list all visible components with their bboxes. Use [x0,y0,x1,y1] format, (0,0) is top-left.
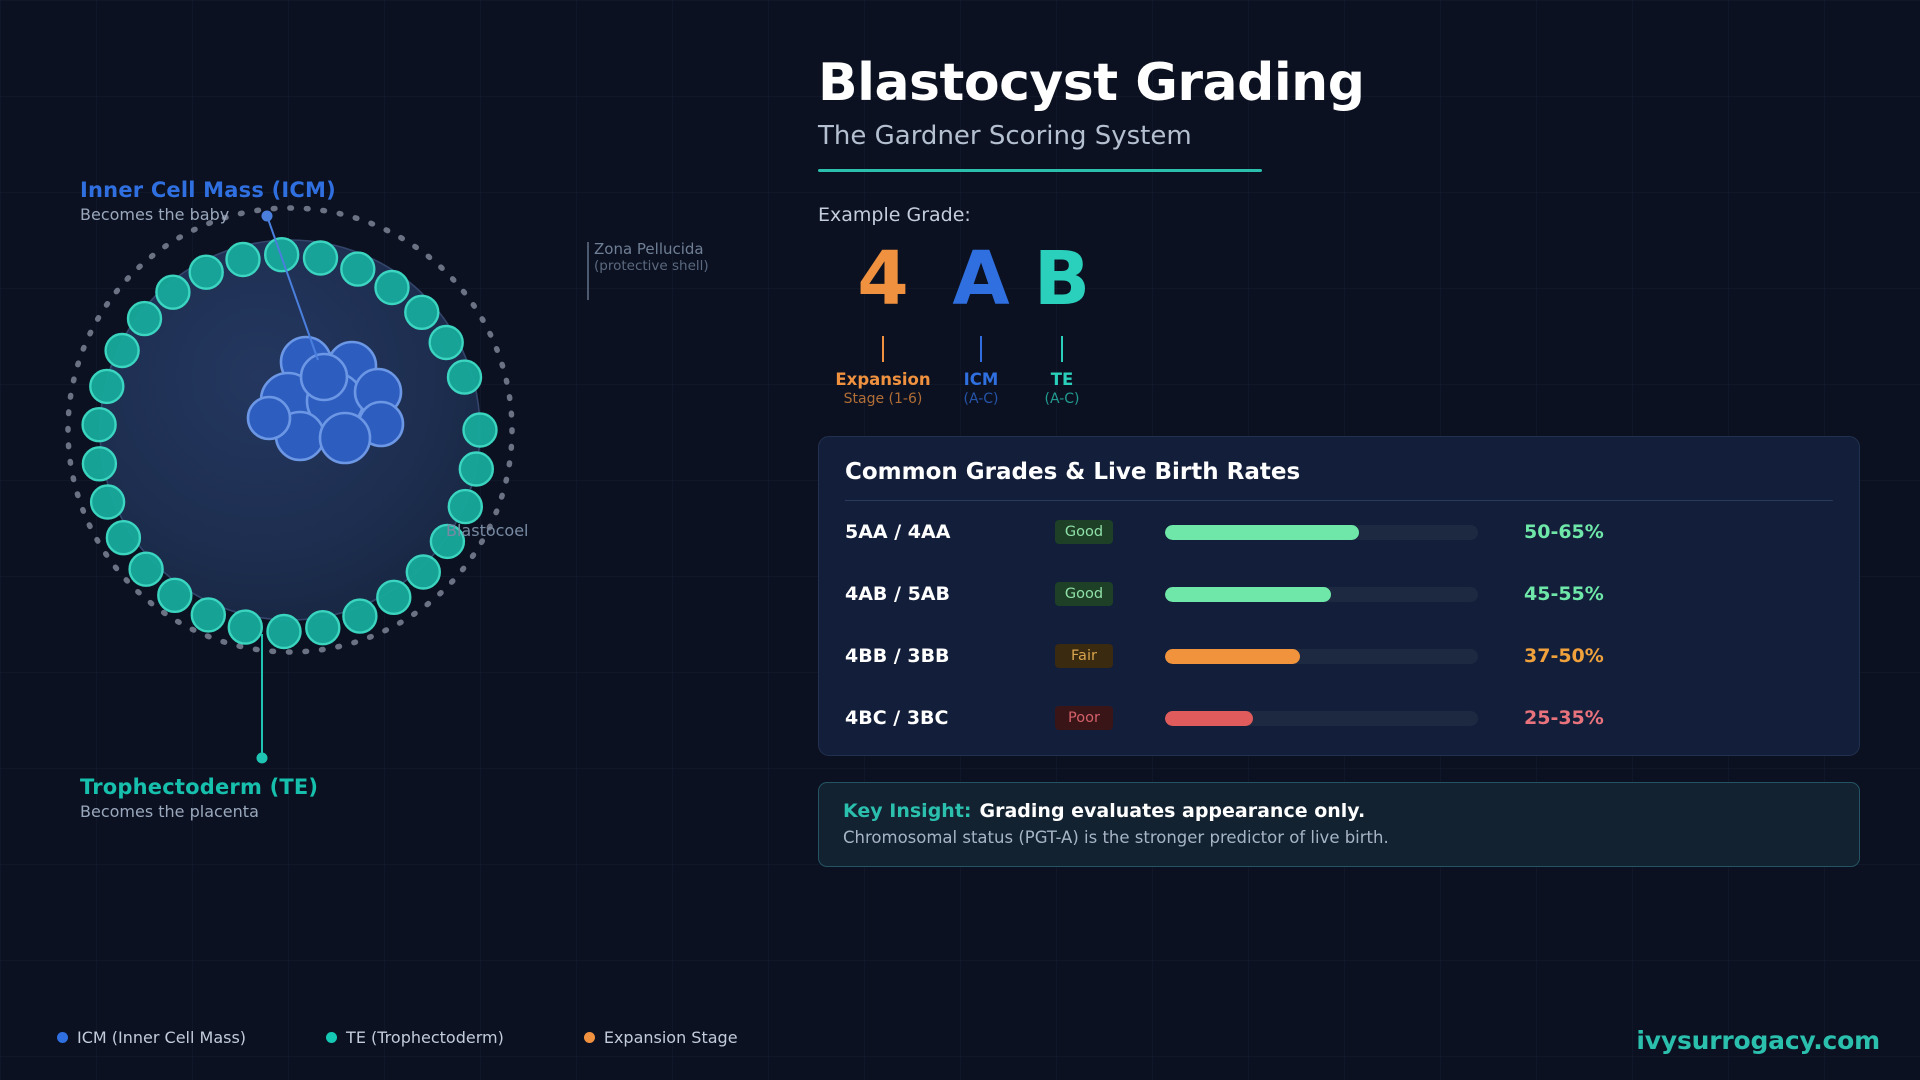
grade-part-stem [882,336,884,362]
key-insight-main: Grading evaluates appearance only. [980,800,1366,822]
infographic-canvas: Inner Cell Mass (ICM) Becomes the baby T… [0,0,1920,1080]
rate-value: 45-55% [1524,583,1604,605]
legend-item-label: TE (Trophectoderm) [346,1028,504,1047]
grade-part-stem [1061,336,1063,362]
grade-label: 5AA / 4AA [845,521,1055,543]
rate-value: 50-65% [1524,521,1604,543]
status-badge: Fair [1055,644,1113,668]
rate-bar-track [1165,525,1478,540]
rate-value: 37-50% [1524,645,1604,667]
grade-part-sub: Stage (1-6) [818,391,948,407]
content-column: Blastocyst Grading The Gardner Scoring S… [818,0,1878,1010]
key-insight-headline: Key Insight:Grading evaluates appearance… [843,800,1835,822]
rate-bar-track [1165,711,1478,726]
grade-part-char: B [1021,242,1103,316]
table-row: 5AA / 4AAGood50-65% [845,501,1833,563]
zona-annotation-sub: (protective shell) [594,258,709,274]
te-annotation: Trophectoderm (TE) Becomes the placenta [80,775,318,821]
grade-part-name: TE [1021,370,1103,389]
grade-label: 4BB / 3BB [845,645,1055,667]
footer: ICM (Inner Cell Mass)TE (Trophectoderm)E… [0,1010,1920,1080]
rate-bar-track [1165,649,1478,664]
example-grade-label: Example Grade: [818,204,1878,226]
icm-annotation-sub: Becomes the baby [80,205,336,224]
grade-label: 4AB / 5AB [845,583,1055,605]
status-badge: Good [1055,582,1113,606]
grades-card-title: Common Grades & Live Birth Rates [845,459,1833,485]
table-row: 4AB / 5ABGood45-55% [845,563,1833,625]
zona-pellucida-annotation: Zona Pellucida (protective shell) [594,240,709,275]
legend-item-label: Expansion Stage [604,1028,738,1047]
rate-bar-fill [1165,525,1359,540]
rate-bar-fill [1165,587,1331,602]
rate-bar-fill [1165,711,1253,726]
legend: ICM (Inner Cell Mass)TE (Trophectoderm)E… [57,1028,818,1047]
brand-watermark: ivysurrogacy.com [1636,1026,1880,1055]
grade-part-icm: A ICM (A-C) [940,242,1022,407]
icm-annotation: Inner Cell Mass (ICM) Becomes the baby [80,178,336,224]
legend-color-dot [584,1032,595,1043]
grades-table: 5AA / 4AAGood50-65%4AB / 5ABGood45-55%4B… [845,501,1833,749]
blastocyst-illustration [0,0,660,1010]
grade-part-name: ICM [940,370,1022,389]
te-annotation-sub: Becomes the placenta [80,802,318,821]
grade-part-char: 4 [818,242,948,316]
table-row: 4BB / 3BBFair37-50% [845,625,1833,687]
grades-card: Common Grades & Live Birth Rates 5AA / 4… [818,436,1860,756]
grade-breakdown: 4 Expansion Stage (1-6) A ICM (A-C) B TE… [818,242,1878,418]
key-insight-box: Key Insight:Grading evaluates appearance… [818,782,1860,867]
legend-item: ICM (Inner Cell Mass) [57,1028,246,1047]
page-subtitle: The Gardner Scoring System [818,121,1878,151]
grade-part-name: Expansion [818,370,948,389]
legend-item-label: ICM (Inner Cell Mass) [77,1028,246,1047]
legend-color-dot [326,1032,337,1043]
key-insight-detail: Chromosomal status (PGT-A) is the strong… [843,828,1835,847]
rate-bar-track [1165,587,1478,602]
grade-label: 4BC / 3BC [845,707,1055,729]
table-row: 4BC / 3BCPoor25-35% [845,687,1833,749]
grade-part-sub: (A-C) [940,391,1022,407]
page-title: Blastocyst Grading [818,56,1878,111]
rate-bar-fill [1165,649,1300,664]
grade-part-expansion: 4 Expansion Stage (1-6) [818,242,948,407]
legend-item: Expansion Stage [584,1028,738,1047]
title-underline [818,169,1262,172]
rate-value: 25-35% [1524,707,1604,729]
blastocoel-annotation: Blastocoel [446,521,529,540]
grade-part-stem [980,336,982,362]
status-badge: Poor [1055,706,1113,730]
icm-annotation-title: Inner Cell Mass (ICM) [80,178,336,202]
status-badge: Good [1055,520,1113,544]
legend-color-dot [57,1032,68,1043]
zona-annotation-title: Zona Pellucida [594,240,709,258]
te-leader-line [257,634,268,764]
grade-part-sub: (A-C) [1021,391,1103,407]
te-annotation-title: Trophectoderm (TE) [80,775,318,799]
grade-part-te: B TE (A-C) [1021,242,1103,407]
blastocyst-diagram: Inner Cell Mass (ICM) Becomes the baby T… [0,0,660,1010]
legend-item: TE (Trophectoderm) [326,1028,504,1047]
key-insight-label: Key Insight: [843,800,972,822]
grade-part-char: A [940,242,1022,316]
